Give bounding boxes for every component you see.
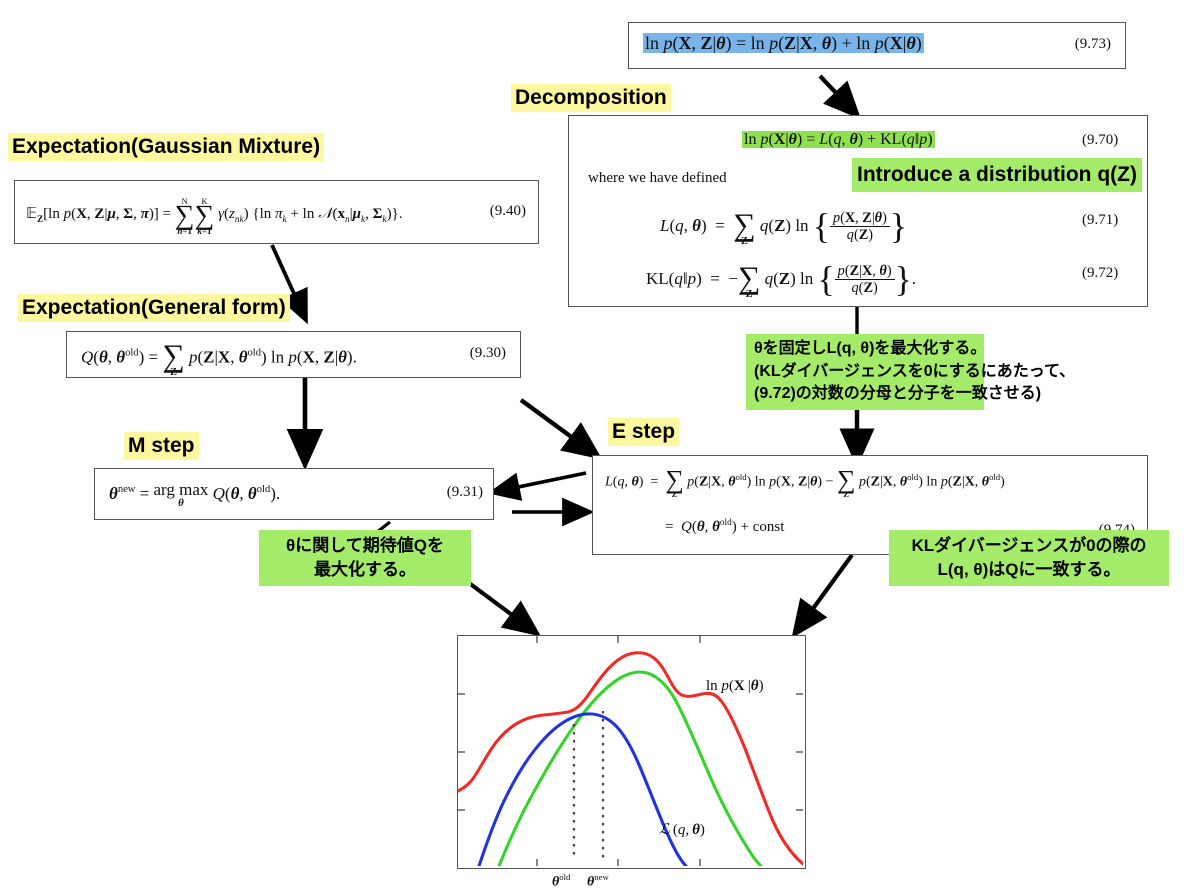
chart-svg bbox=[458, 636, 803, 866]
equation-974-line2: = Q(θ, θold) + const bbox=[665, 518, 784, 536]
chart-ticks bbox=[458, 636, 803, 866]
chart-xtick-theta-new: θnew bbox=[587, 872, 609, 891]
label-expectation-general-form: Expectation(General form) bbox=[18, 294, 290, 322]
chart-annotation-l-q-theta: ℒ (q, θ) bbox=[659, 820, 705, 839]
equation-972-text: KL(q‖p) = −∑Z q(Z) ln {p(Z|X, θ)q(Z)}. bbox=[646, 259, 916, 301]
equation-box-973: ln p(X, Z|θ) = ln p(Z|X, θ) + ln p(X|θ) … bbox=[628, 22, 1126, 69]
note-kl-zero-line2: L(q, θ)はQに一致する。 bbox=[895, 558, 1163, 582]
arrow-974-to-931 bbox=[494, 473, 586, 492]
arrow-maximize-to-chart bbox=[465, 580, 535, 632]
note-fix-theta-line1: θを固定しL(q, θ)を最大化する。 bbox=[754, 338, 976, 361]
equation-box-940: 𝔼Z[ln p(X, Z|μ, Σ, π)] = N∑n=1K∑k=1 γ(zn… bbox=[14, 180, 539, 244]
arrow-930-to-974 bbox=[521, 400, 596, 455]
note-maximize-q-line1: θに関して期待値Qを bbox=[265, 534, 465, 558]
equation-930-text: Q(θ, θold) = ∑Z p(Z|X, θold) ln p(X, Z|θ… bbox=[81, 341, 357, 376]
equation-971-text: L(q, θ) = ∑Z q(Z) ln {p(X, Z|θ)q(Z)} bbox=[660, 206, 907, 248]
equation-973-number: (9.73) bbox=[1075, 36, 1111, 53]
equation-940-text: 𝔼Z[ln p(X, Z|μ, Σ, π)] = N∑n=1K∑k=1 γ(zn… bbox=[26, 195, 403, 234]
equation-972-number: (9.72) bbox=[1082, 265, 1118, 282]
equation-974-line1: L(q, θ) = ∑Z p(Z|X, θold) ln p(X, Z|θ) −… bbox=[605, 468, 1005, 497]
note-introduce-distribution: Introduce a distribution q(Z) bbox=[852, 158, 1142, 192]
label-m-step: M step bbox=[124, 432, 199, 460]
em-bound-chart bbox=[457, 635, 806, 869]
equation-970-number: (9.70) bbox=[1082, 132, 1118, 149]
equation-970-text: ln p(X|θ) = L(q, θ) + KL(q‖p) bbox=[742, 131, 935, 149]
note-kl-zero-line1: KLダイバージェンスが0の際の bbox=[895, 534, 1163, 558]
chart-annotation-ln-p: ln p(X |θ) bbox=[706, 678, 764, 695]
equation-940-number: (9.40) bbox=[490, 203, 526, 220]
equation-box-930: Q(θ, θold) = ∑Z p(Z|X, θold) ln p(X, Z|θ… bbox=[66, 331, 521, 378]
note-fix-theta-line2: (KLダイバージェンスを0にするにあたって、 bbox=[754, 361, 976, 384]
equation-931-text: θnew = arg maxθ Q(θ, θold). bbox=[109, 481, 280, 509]
equation-931-number: (9.31) bbox=[447, 484, 483, 501]
equation-973-text: ln p(X, Z|θ) = ln p(Z|X, θ) + ln p(X|θ) bbox=[643, 33, 924, 54]
equation-971-number: (9.71) bbox=[1082, 212, 1118, 229]
note-maximize-q-line2: 最大化する。 bbox=[265, 558, 465, 582]
where-we-have-defined: where we have defined bbox=[588, 170, 727, 187]
note-maximize-q: θに関して期待値Qを 最大化する。 bbox=[259, 530, 471, 586]
label-decomposition: Decomposition bbox=[511, 84, 671, 112]
diagram-canvas: ln p(X, Z|θ) = ln p(Z|X, θ) + ln p(X|θ) … bbox=[0, 0, 1200, 894]
label-expectation-gaussian-mixture: Expectation(Gaussian Mixture) bbox=[8, 133, 324, 161]
note-fix-theta-line3: (9.72)の対数の分母と分子を一致させる) bbox=[754, 383, 976, 406]
label-e-step: E step bbox=[608, 418, 679, 446]
equation-930-number: (9.30) bbox=[470, 345, 506, 362]
arrow-973-to-970 bbox=[820, 76, 856, 114]
note-fix-theta: θを固定しL(q, θ)を最大化する。 (KLダイバージェンスを0にするにあたっ… bbox=[746, 334, 984, 410]
note-kl-zero: KLダイバージェンスが0の際の L(q, θ)はQに一致する。 bbox=[889, 530, 1169, 586]
chart-xtick-theta-old: θold bbox=[552, 872, 570, 891]
arrow-974-to-chart bbox=[796, 555, 852, 632]
equation-box-931: θnew = arg maxθ Q(θ, θold). (9.31) bbox=[94, 468, 494, 520]
